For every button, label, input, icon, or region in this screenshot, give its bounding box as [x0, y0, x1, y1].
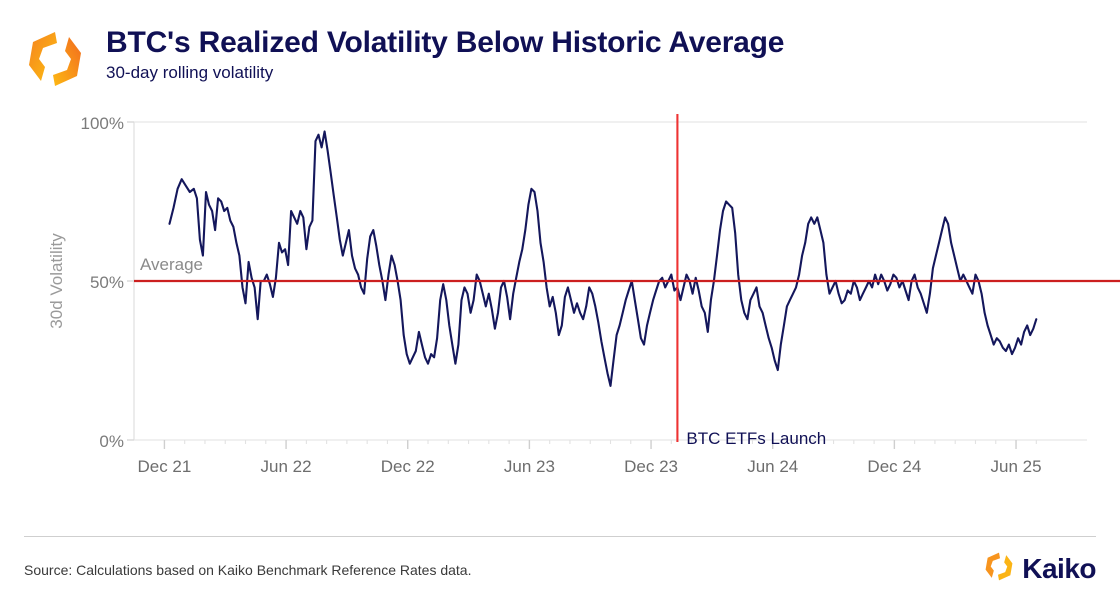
chart-header: BTC's Realized Volatility Below Historic… — [0, 0, 1120, 100]
y-tick-label: 100% — [81, 114, 124, 133]
x-tick-label: Dec 21 — [137, 457, 191, 476]
y-axis-title: 30d Volatility — [47, 233, 66, 329]
title-block: BTC's Realized Volatility Below Historic… — [106, 26, 784, 82]
volatility-line-chart: 100% 50% 0% 30d Volatility Average BTC E… — [0, 100, 1120, 505]
footer-divider — [24, 536, 1096, 537]
x-tick-label: Jun 22 — [261, 457, 312, 476]
average-line-label: Average — [140, 255, 203, 274]
page-title: BTC's Realized Volatility Below Historic… — [106, 26, 784, 60]
kaiko-logo-icon — [983, 551, 1015, 587]
y-axis-ticks: 100% 50% 0% — [81, 114, 134, 451]
x-tick-label: Jun 25 — [991, 457, 1042, 476]
x-tick-label: Dec 24 — [867, 457, 921, 476]
etf-launch-label: BTC ETFs Launch — [686, 429, 826, 448]
chart-plot-area: 100% 50% 0% 30d Volatility Average BTC E… — [0, 100, 1120, 505]
footer-logo: Kaiko — [983, 552, 1096, 586]
x-tick-label: Dec 23 — [624, 457, 678, 476]
volatility-series-line — [170, 132, 1037, 386]
x-axis-tick-labels: Dec 21Jun 22Dec 22Jun 23Dec 23Jun 24Dec … — [137, 457, 1041, 476]
x-tick-label: Jun 23 — [504, 457, 555, 476]
x-tick-label: Dec 22 — [381, 457, 435, 476]
source-note: Source: Calculations based on Kaiko Benc… — [24, 562, 471, 578]
x-tick-label: Jun 24 — [747, 457, 798, 476]
page-subtitle: 30-day rolling volatility — [106, 64, 784, 83]
chart-footer: Source: Calculations based on Kaiko Benc… — [0, 528, 1120, 598]
kaiko-wordmark: Kaiko — [1022, 555, 1096, 583]
kaiko-logo-icon — [24, 29, 86, 89]
y-tick-label: 50% — [90, 273, 124, 292]
y-tick-label: 0% — [99, 432, 124, 451]
